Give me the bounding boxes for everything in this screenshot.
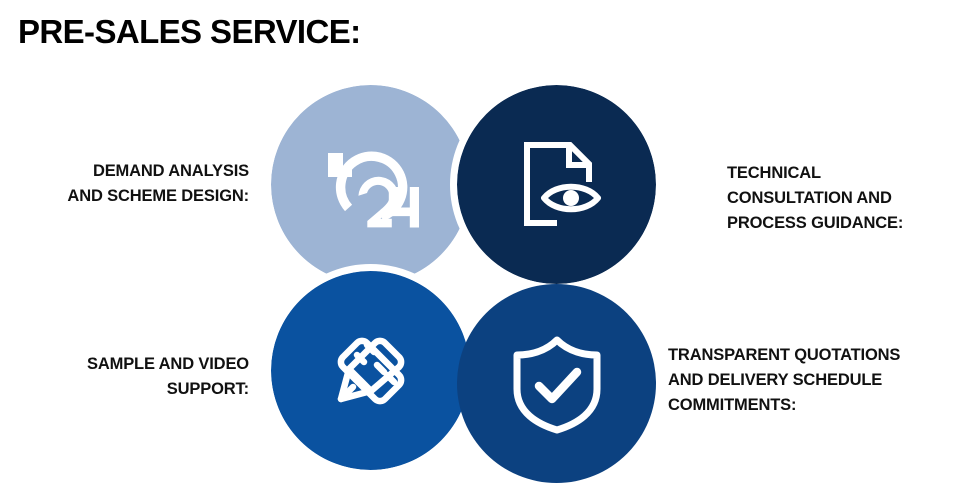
circle-technical-consultation[interactable]: [457, 85, 656, 284]
pre-sales-service-diagram: [271, 85, 671, 483]
circle-sample-video-support-fill: [271, 271, 470, 470]
circle-technical-consultation-fill: [457, 85, 656, 284]
shield-check-icon: [509, 334, 605, 434]
label-technical-consultation: TECHNICAL CONSULTATION AND PROCESS GUIDA…: [727, 161, 960, 236]
label-sample-video-support: SAMPLE AND VIDEO SUPPORT:: [0, 352, 249, 402]
circle-demand-analysis-fill: [271, 85, 470, 284]
circle-sample-video-support[interactable]: [271, 271, 470, 470]
24-hour-rotation-icon: [317, 135, 425, 235]
page-title: PRE-SALES SERVICE:: [18, 11, 361, 53]
pencil-ruler-icon: [319, 319, 423, 423]
label-transparent-quotations: TRANSPARENT QUOTATIONS AND DELIVERY SCHE…: [668, 343, 960, 418]
circle-demand-analysis[interactable]: [271, 85, 470, 284]
label-demand-analysis: DEMAND ANALYSIS AND SCHEME DESIGN:: [0, 159, 249, 209]
circle-transparent-quotations[interactable]: [457, 284, 656, 483]
circle-transparent-quotations-fill: [457, 284, 656, 483]
document-eye-icon: [507, 135, 607, 235]
